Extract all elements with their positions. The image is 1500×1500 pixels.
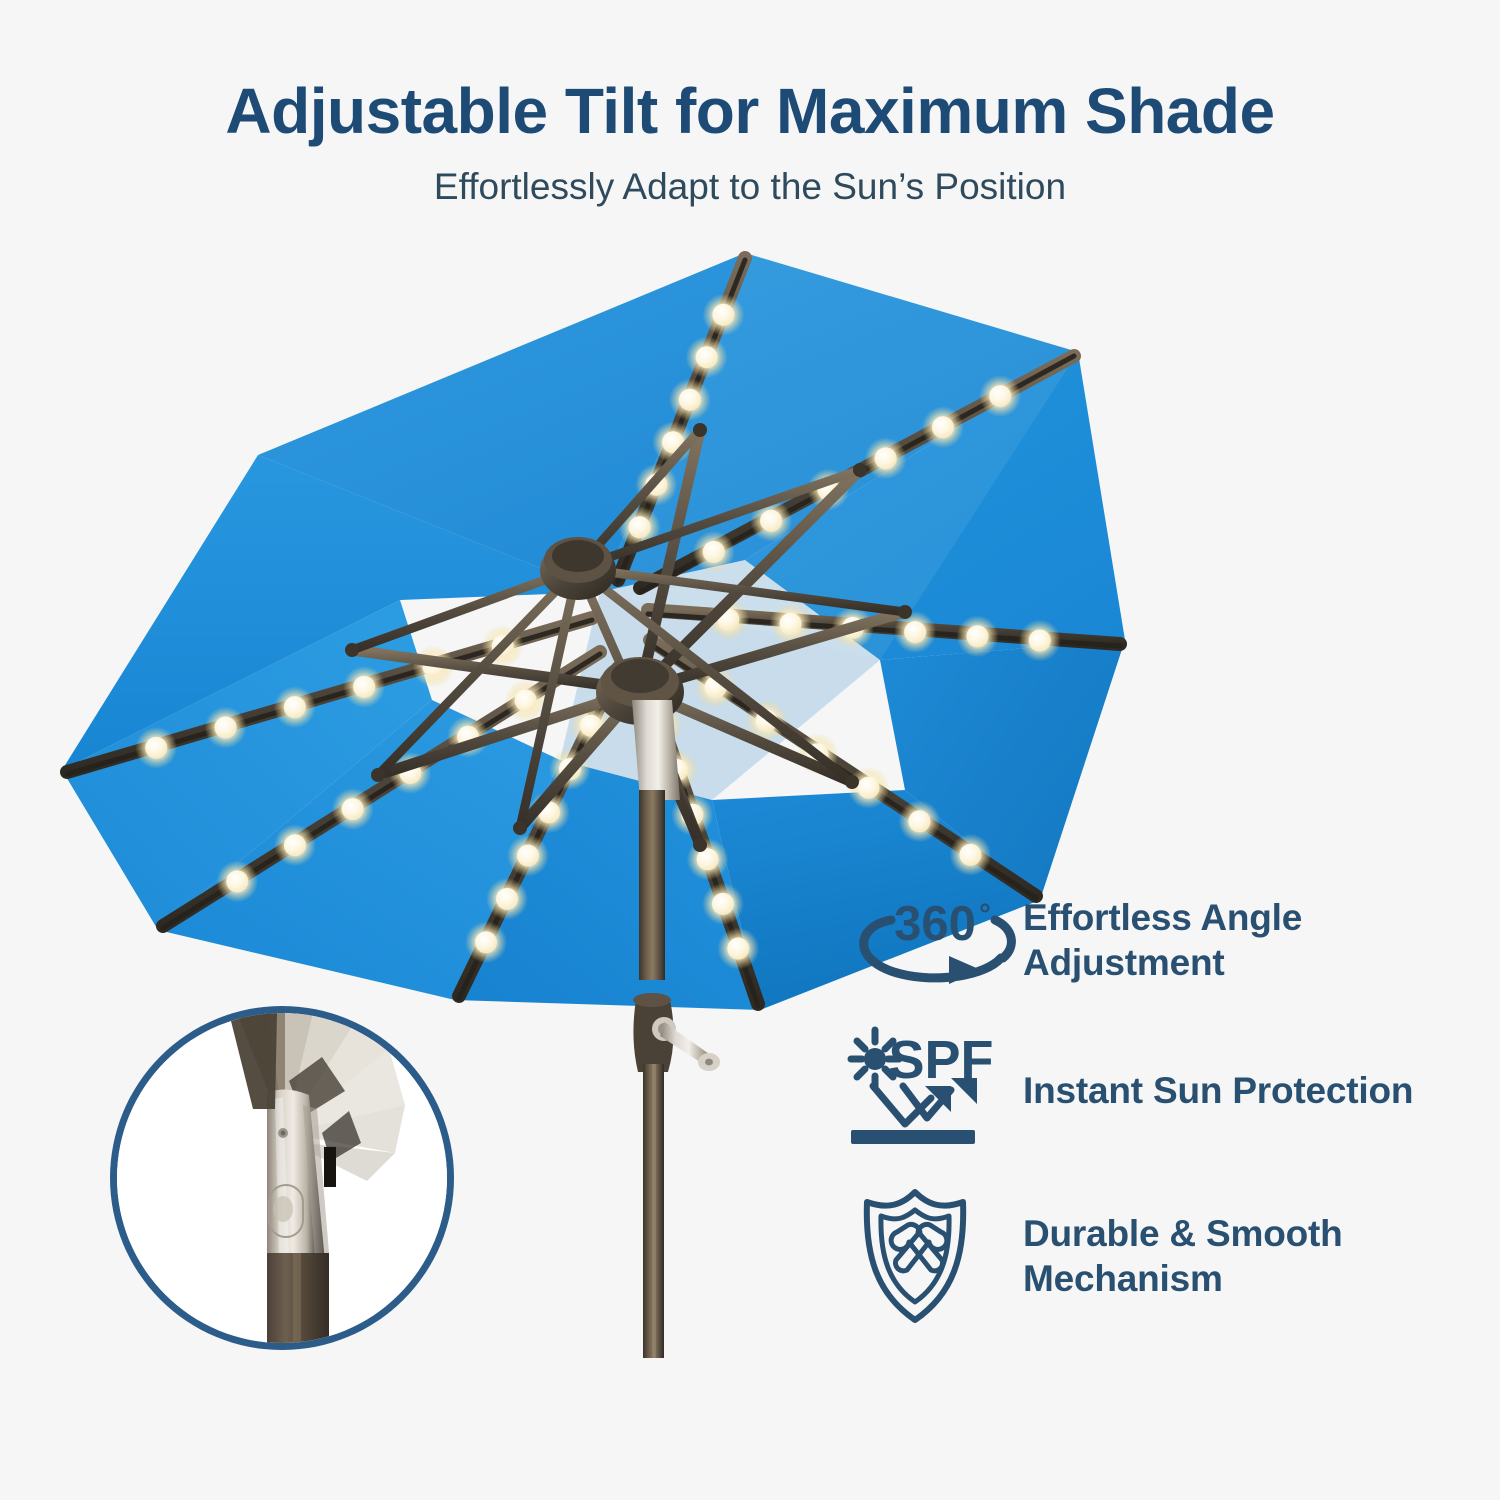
- tilt-mechanism-inset: [117, 1013, 447, 1343]
- led-bulb: [966, 625, 988, 647]
- 360-rotation-icon: 360 °: [845, 884, 1023, 996]
- feature-row-360: 360 ° Effortless Angle Adjustment: [845, 880, 1495, 1000]
- feature-list: 360 ° Effortless Angle Adjustment: [845, 880, 1495, 1352]
- crank-housing-top: [633, 993, 671, 1007]
- top-hub: [540, 537, 616, 600]
- led-bulb: [1029, 630, 1051, 652]
- led-bulb: [475, 931, 497, 953]
- led-bulb: [517, 845, 539, 867]
- led-bulb: [712, 304, 734, 326]
- led-bulb: [342, 798, 364, 820]
- feature-label-durable: Durable & Smooth Mechanism: [1023, 1211, 1343, 1301]
- led-bulb: [904, 621, 926, 643]
- led-bulb: [145, 737, 167, 759]
- feature-label-spf: Instant Sun Protection: [1023, 1068, 1413, 1113]
- 360-icon-text: 360: [894, 897, 976, 951]
- feature-row-durable: Durable & Smooth Mechanism: [845, 1186, 1495, 1326]
- led-bulb: [226, 870, 248, 892]
- led-bulb: [959, 844, 981, 866]
- led-bulb: [515, 690, 537, 712]
- led-bulb: [629, 516, 651, 538]
- led-bulb: [215, 716, 237, 738]
- led-bulb: [908, 810, 930, 832]
- led-bulb: [284, 834, 306, 856]
- led-bulb: [696, 346, 718, 368]
- led-bulb: [780, 613, 802, 635]
- pole-upper: [639, 790, 665, 980]
- spf-icon-text: SPF: [888, 1030, 993, 1090]
- led-bulb: [679, 389, 701, 411]
- led-bulb: [760, 510, 782, 532]
- spf-sun-protection-icon: SPF: [845, 1026, 1023, 1156]
- led-bulb: [496, 888, 518, 910]
- led-bulb: [284, 696, 306, 718]
- pole-highlight: [652, 1064, 656, 1358]
- feature-label-360: Effortless Angle Adjustment: [1023, 895, 1302, 985]
- led-bulb: [989, 385, 1011, 407]
- led-bulb: [875, 447, 897, 469]
- led-bulb: [857, 777, 879, 799]
- infographic-canvas: Adjustable Tilt for Maximum Shade Effort…: [0, 0, 1500, 1500]
- degree-symbol: °: [979, 898, 991, 931]
- led-bulb: [727, 938, 749, 960]
- led-bulb: [712, 893, 734, 915]
- pole-detail: [267, 1253, 329, 1343]
- led-bulb: [353, 676, 375, 698]
- shield-wrench-icon: [845, 1186, 1023, 1326]
- tilt-collar: [632, 700, 680, 800]
- feature-row-spf: SPF Instant Sun Protection: [845, 1026, 1495, 1156]
- led-bulb: [703, 541, 725, 563]
- led-bulb: [932, 416, 954, 438]
